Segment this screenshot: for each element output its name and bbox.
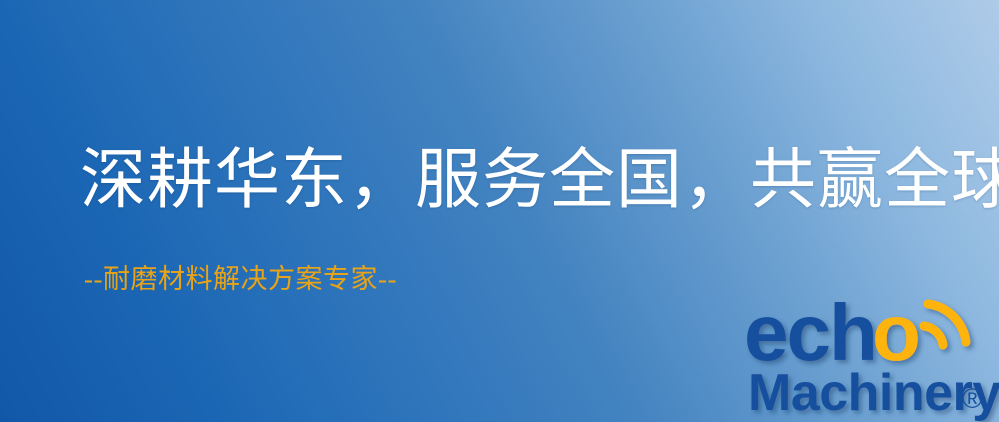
banner-headline: 深耕华东，服务全国，共赢全球: [80, 148, 999, 214]
signal-wave-icon: [924, 304, 966, 345]
registered-trademark-icon: ®: [962, 383, 983, 414]
banner-subtitle: --耐磨材料解决方案专家--: [84, 266, 397, 293]
echo-machinery-logo[interactable]: ech o Machinery ®: [744, 292, 999, 422]
hero-banner: 深耕华东，服务全国，共赢全球 --耐磨材料解决方案专家-- ech o Mach…: [0, 0, 999, 422]
